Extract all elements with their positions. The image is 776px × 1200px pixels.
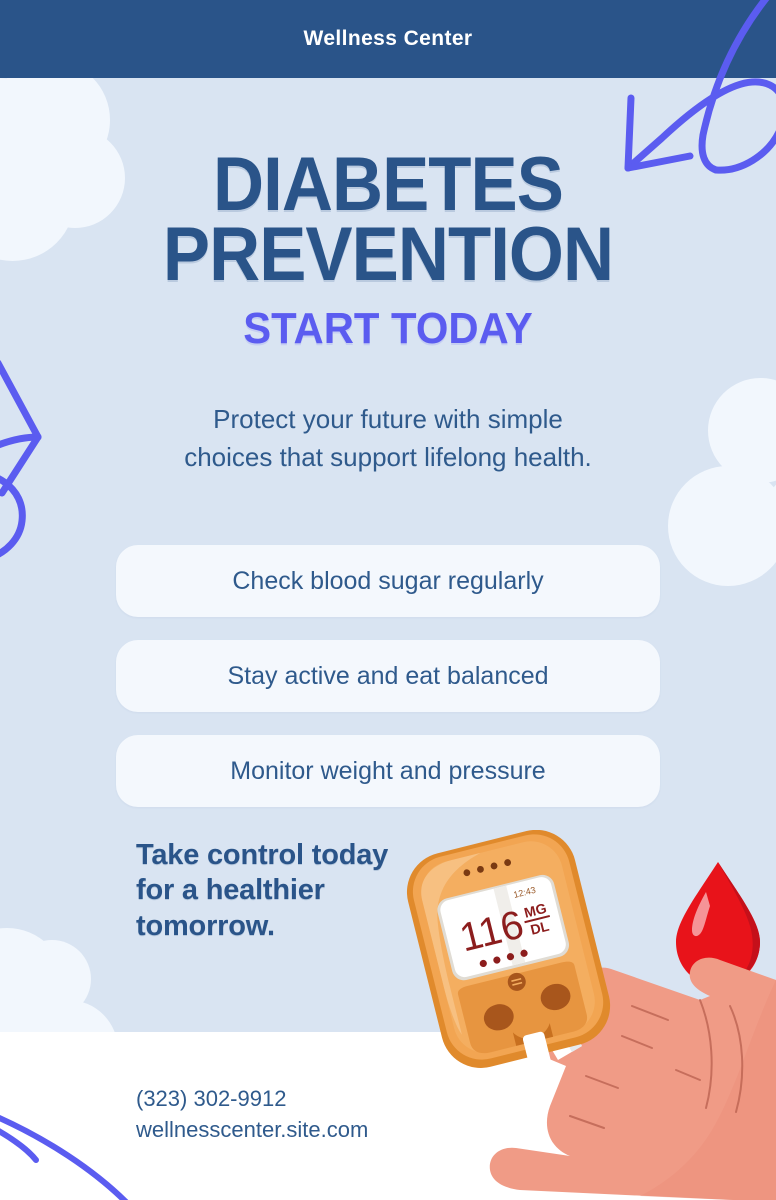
tip-card-1-label: Check blood sugar regularly xyxy=(232,567,543,596)
call-to-action-text: Take control today for a healthier tomor… xyxy=(136,838,416,944)
glucose-illustration: 116 MG DL 12:43 xyxy=(400,830,776,1200)
hero-subtitle: START TODAY xyxy=(19,304,756,354)
hero-description: Protect your future with simple choices … xyxy=(178,400,598,477)
hero-title-line-1: DIABETES xyxy=(27,150,749,220)
poster-canvas: Wellness Center DIABETES PREVENTION STAR… xyxy=(0,0,776,1200)
tip-card-3-label: Monitor weight and pressure xyxy=(230,757,545,786)
hero-title-block: DIABETES PREVENTION START TODAY xyxy=(0,150,776,354)
tip-card-1[interactable]: Check blood sugar regularly xyxy=(116,545,660,617)
tip-card-2[interactable]: Stay active and eat balanced xyxy=(116,640,660,712)
tips-list: Check blood sugar regularly Stay active … xyxy=(116,545,660,830)
tip-card-3[interactable]: Monitor weight and pressure xyxy=(116,735,660,807)
tip-card-2-label: Stay active and eat balanced xyxy=(227,662,548,691)
hero-title-line-2: PREVENTION xyxy=(27,220,749,290)
curve-squiggle-bottom-left xyxy=(0,1108,180,1200)
